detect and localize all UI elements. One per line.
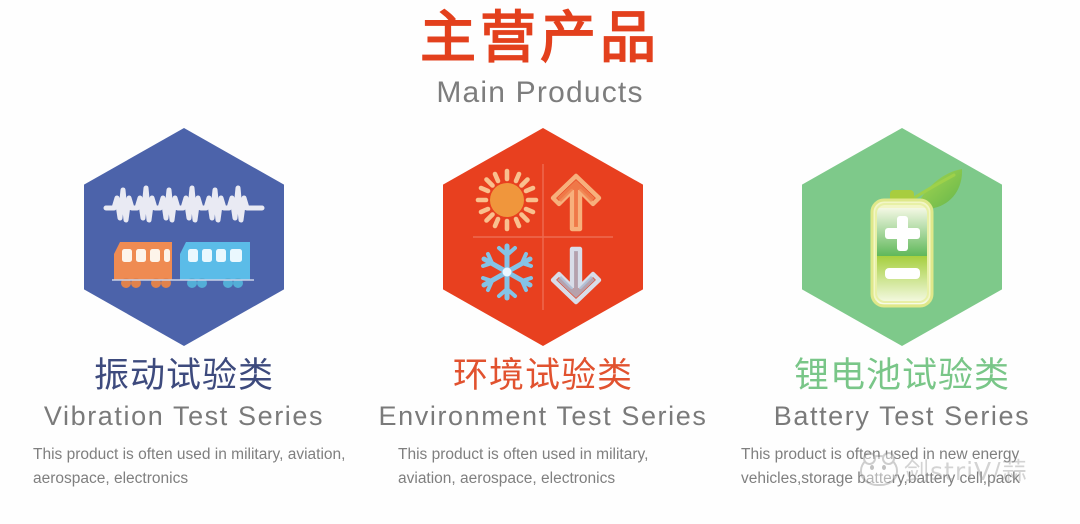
battery-test-hexagon-icon (802, 128, 1002, 346)
product-columns: 振动试验类 Vibration Test Series This product… (0, 128, 1080, 491)
page-title-en: Main Products (0, 75, 1080, 111)
product-title-en-vibration: Vibration Test Series (44, 400, 324, 434)
product-card-battery[interactable]: 锂电池试验类 Battery Test Series This product … (720, 128, 1080, 491)
page-title-cn: 主营产品 (0, 8, 1080, 71)
battery-body (872, 200, 932, 306)
snowflake-icon (483, 246, 531, 298)
arrow-down-icon (553, 249, 599, 302)
page-header: 主营产品 Main Products (0, 0, 1080, 111)
vibration-icon-svg (84, 128, 284, 346)
product-description-vibration: This product is often used in military, … (19, 443, 349, 491)
battery-icon-svg (802, 128, 1002, 346)
main-products-slide: 主营产品 Main Products (0, 0, 1080, 524)
product-card-environment[interactable]: 环境试验类 Environment Test Series This produ… (360, 128, 720, 491)
minus-icon (885, 268, 920, 279)
arrow-up-icon (553, 176, 599, 229)
battery-icon-group (802, 128, 1002, 346)
environment-test-hexagon-icon (443, 128, 643, 346)
environment-icon-group (443, 128, 643, 346)
environment-icon-svg (443, 128, 643, 346)
sun-icon (478, 171, 536, 229)
product-card-vibration[interactable]: 振动试验类 Vibration Test Series This product… (0, 128, 360, 491)
product-title-cn-battery: 锂电池试验类 (794, 356, 1010, 397)
product-title-en-environment: Environment Test Series (379, 400, 708, 434)
vibration-icon-group (84, 128, 284, 346)
product-title-cn-vibration: 振动试验类 (94, 356, 274, 397)
train-car-orange-icon (114, 242, 172, 288)
product-description-battery: This product is often used in new energy… (733, 443, 1071, 491)
vibration-test-hexagon-icon (84, 128, 284, 346)
waveform-icon (106, 188, 262, 220)
product-title-cn-environment: 环境试验类 (453, 356, 633, 397)
train-car-blue-icon (180, 242, 250, 288)
product-description-environment: This product is often used in military, … (376, 443, 710, 491)
product-title-en-battery: Battery Test Series (774, 400, 1031, 434)
